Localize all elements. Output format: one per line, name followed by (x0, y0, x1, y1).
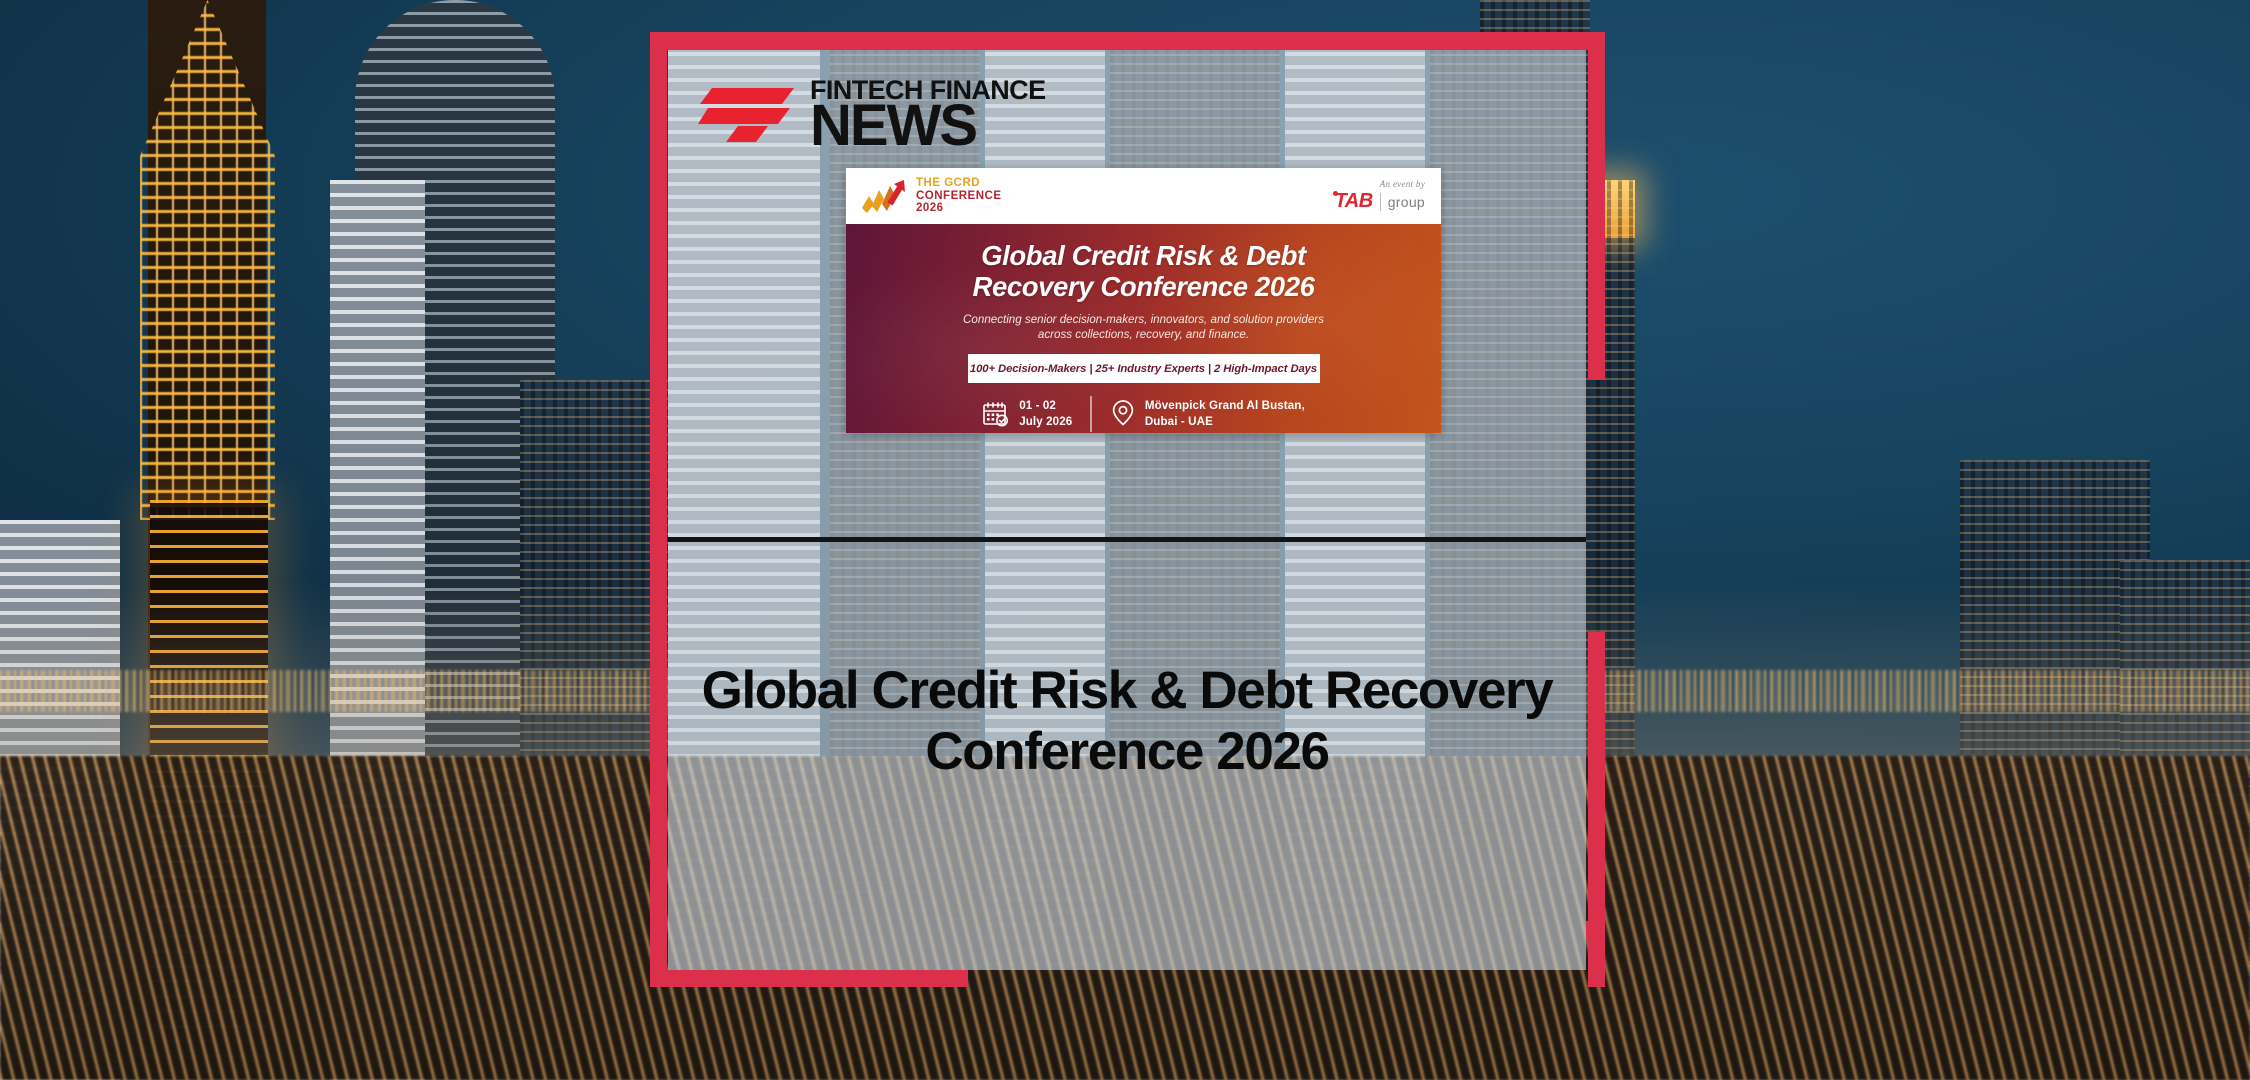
publisher-logo[interactable]: FINTECH FINANCE NEWS (698, 78, 1046, 152)
banner-title-line1: Global Credit Risk & Debt (866, 240, 1421, 271)
calendar-check-icon (982, 400, 1010, 428)
banner-subtitle-line2: across collections, recovery, and financ… (866, 327, 1421, 342)
gcrd-line2: CONFERENCE (916, 190, 1002, 203)
organizer-suffix: group (1388, 194, 1425, 210)
banner-subtitle: Connecting senior decision-makers, innov… (866, 312, 1421, 343)
gcrd-line1: THE GCRD (916, 177, 1002, 190)
organizer-prefix: An event by (1335, 179, 1425, 189)
banner-footer-divider (1090, 396, 1092, 432)
article-headline[interactable]: Global Credit Risk & Debt Recovery Confe… (694, 660, 1560, 783)
banner-stats-text: 100+ Decision-Makers | 25+ Industry Expe… (970, 363, 1317, 375)
organizer-logo: An event by TAB group (1335, 179, 1425, 213)
conference-banner[interactable]: THE GCRD CONFERENCE 2026 An event by TAB… (846, 168, 1441, 433)
banner-venue-block: Mövenpick Grand Al Bustan, Dubai - UAE (1110, 398, 1305, 429)
banner-date-line1: 01 - 02 (1019, 398, 1072, 413)
frame-right-bar-upper (1588, 32, 1605, 380)
organizer-name: TAB (1335, 190, 1373, 213)
banner-date-block: 01 - 02 July 2026 (982, 398, 1072, 429)
banner-venue-line2: Dubai - UAE (1145, 414, 1305, 429)
banner-date-line2: July 2026 (1019, 414, 1072, 429)
organizer-divider (1380, 193, 1381, 211)
fintech-finance-news-logo-icon (698, 84, 794, 146)
banner-footer: 01 - 02 July 2026 Mövenpick Grand Al Bus… (866, 396, 1421, 432)
publisher-name-line2: NEWS (810, 99, 1046, 152)
location-pin-icon (1110, 399, 1136, 429)
banner-header: THE GCRD CONFERENCE 2026 An event by TAB… (846, 168, 1441, 224)
gcrd-event-logo: THE GCRD CONFERENCE 2026 (860, 177, 1002, 216)
banner-venue-line1: Mövenpick Grand Al Bustan, (1145, 398, 1305, 413)
banner-subtitle-line1: Connecting senior decision-makers, innov… (866, 312, 1421, 327)
banner-title: Global Credit Risk & Debt Recovery Confe… (866, 240, 1421, 303)
banner-stats-bar: 100+ Decision-Makers | 25+ Industry Expe… (968, 354, 1320, 383)
frame-top-bar (650, 32, 1605, 50)
frame-left-bar (650, 32, 667, 987)
gcrd-line3: 2026 (916, 202, 1002, 215)
banner-body: Global Credit Risk & Debt Recovery Confe… (846, 224, 1441, 433)
growth-chart-arrow-icon (860, 178, 906, 214)
frame-bottom-bar-left (650, 969, 968, 987)
article-card: FINTECH FINANCE NEWS THE GCRD (668, 50, 1586, 970)
headline-line2: Conference 2026 (694, 721, 1560, 782)
section-divider (668, 537, 1586, 542)
banner-title-line2: Recovery Conference 2026 (866, 271, 1421, 302)
headline-line1: Global Credit Risk & Debt Recovery (694, 660, 1560, 721)
